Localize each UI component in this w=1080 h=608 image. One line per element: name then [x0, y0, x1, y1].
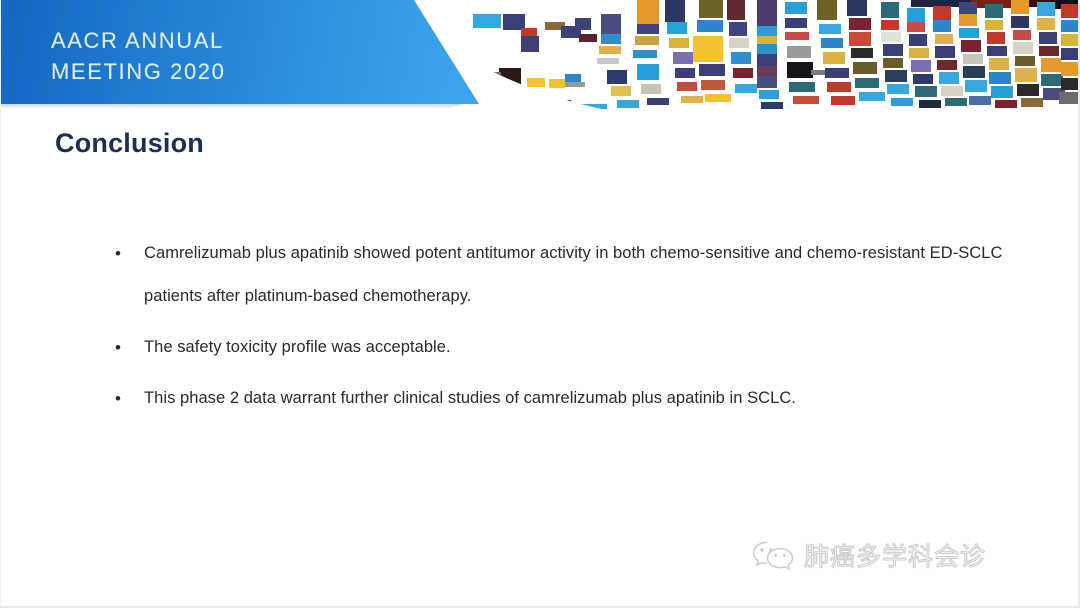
presentation-slide: AACR ANNUAL MEETING 2020 [0, 0, 1080, 608]
page-title: Conclusion [55, 128, 204, 159]
list-item-text: The safety toxicity profile was acceptab… [144, 338, 451, 356]
list-item-text: Camrelizumab plus apatinib showed potent… [144, 244, 1002, 305]
conclusion-bullet-list: • Camrelizumab plus apatinib showed pote… [113, 232, 1003, 420]
bullet-point-icon: • [115, 232, 121, 275]
list-item-text: This phase 2 data warrant further clinic… [144, 389, 796, 407]
watermark: 肺癌多学科会诊 [751, 539, 986, 573]
wechat-logo-icon [751, 539, 795, 573]
conference-branding: AACR ANNUAL MEETING 2020 [51, 25, 225, 87]
bullet-point-icon: • [115, 377, 121, 420]
list-item: • The safety toxicity profile was accept… [113, 326, 1003, 369]
mosaic-svg [441, 0, 1080, 120]
bullet-point-icon: • [115, 326, 121, 369]
color-block-mosaic-graphic [441, 0, 1080, 120]
banner-shadow [1, 104, 463, 109]
list-item: • This phase 2 data warrant further clin… [113, 377, 1003, 420]
list-item: • Camrelizumab plus apatinib showed pote… [113, 232, 1003, 318]
watermark-text: 肺癌多学科会诊 [804, 544, 986, 569]
header-banner: AACR ANNUAL MEETING 2020 [1, 0, 501, 110]
